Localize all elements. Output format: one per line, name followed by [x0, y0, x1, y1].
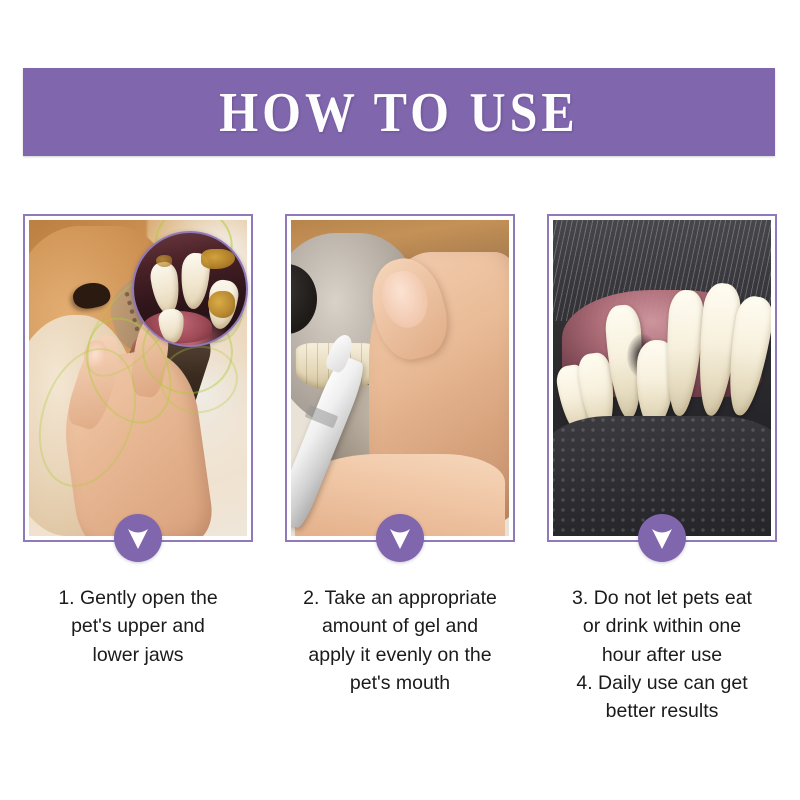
caption-line: 4. Daily use can get: [536, 669, 788, 697]
step-3-arrow-badge: [638, 514, 686, 562]
inset-tartar-shape: [156, 255, 172, 266]
step-2-arrow-badge: [376, 514, 424, 562]
step-2-photo-frame: [285, 214, 515, 542]
step-3: 3. Do not let pets eat or drink within o…: [546, 214, 778, 725]
caption-line: 2. Take an appropriate: [276, 584, 524, 612]
step-2-photo: [291, 220, 509, 536]
step-3-photo: [553, 220, 771, 536]
step-3-photo-frame: [547, 214, 777, 542]
step-1-caption: 1. Gently open the pet's upper and lower…: [14, 584, 262, 669]
how-to-use-banner: HOW TO USE: [23, 68, 775, 156]
caption-line: pet's upper and: [14, 612, 262, 640]
caption-line: better results: [536, 697, 788, 725]
caption-line: lower jaws: [14, 641, 262, 669]
step-1-arrow-badge: [114, 514, 162, 562]
caption-line: apply it evenly on the: [276, 641, 524, 669]
page-title: HOW TO USE: [219, 84, 579, 140]
step-3-caption: 3. Do not let pets eat or drink within o…: [536, 584, 788, 725]
tartar-closeup-inset: [132, 231, 248, 347]
inset-tartar-shape: [201, 249, 235, 269]
caption-line: pet's mouth: [276, 669, 524, 697]
inset-tartar-shape: [208, 291, 235, 318]
caption-line: hour after use: [536, 641, 788, 669]
inset-tooth-shape: [148, 260, 182, 315]
steps-row: 1. Gently open the pet's upper and lower…: [0, 214, 800, 725]
caption-line: 3. Do not let pets eat: [536, 584, 788, 612]
caption-line: 1. Gently open the: [14, 584, 262, 612]
step-2-caption: 2. Take an appropriate amount of gel and…: [276, 584, 524, 697]
caption-line: amount of gel and: [276, 612, 524, 640]
caption-line: or drink within one: [536, 612, 788, 640]
step-2: 2. Take an appropriate amount of gel and…: [284, 214, 516, 725]
